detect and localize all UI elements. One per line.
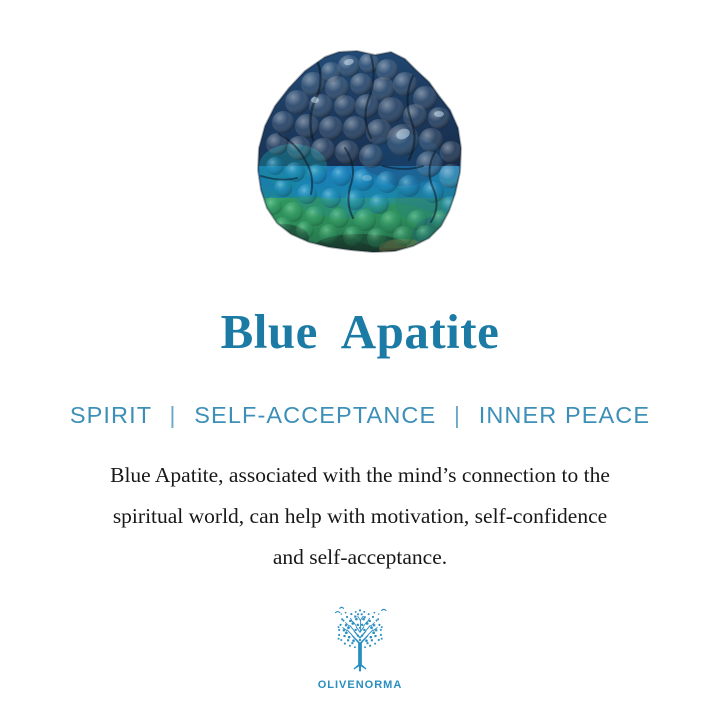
blue-apatite-stone-image [253, 48, 467, 256]
keyword-inner-peace: INNER PEACE [479, 402, 650, 428]
specimen-image-container [0, 40, 720, 256]
keyword-strip: SPIRIT | SELF-ACCEPTANCE | INNER PEACE [0, 400, 720, 430]
description-line: spiritual world, can help with motivatio… [0, 496, 720, 537]
tree-of-life-icon [324, 604, 396, 676]
keyword-self-acceptance: SELF-ACCEPTANCE [194, 402, 436, 428]
page-title: Blue Apatite [0, 303, 720, 361]
stone-body [253, 48, 467, 256]
brand-name: OLIVENORMA [318, 679, 403, 691]
keyword-separator: | [444, 402, 471, 428]
keyword-spirit: SPIRIT [70, 402, 152, 428]
description-text: Blue Apatite, associated with the mind’s… [0, 455, 720, 578]
keyword-separator: | [159, 402, 186, 428]
description-line: Blue Apatite, associated with the mind’s… [0, 455, 720, 496]
blue-apatite-info-card: Blue Apatite SPIRIT | SELF-ACCEPTANCE | … [0, 0, 720, 720]
brand-logo: OLIVENORMA [0, 604, 720, 691]
description-line: and self-acceptance. [0, 537, 720, 578]
